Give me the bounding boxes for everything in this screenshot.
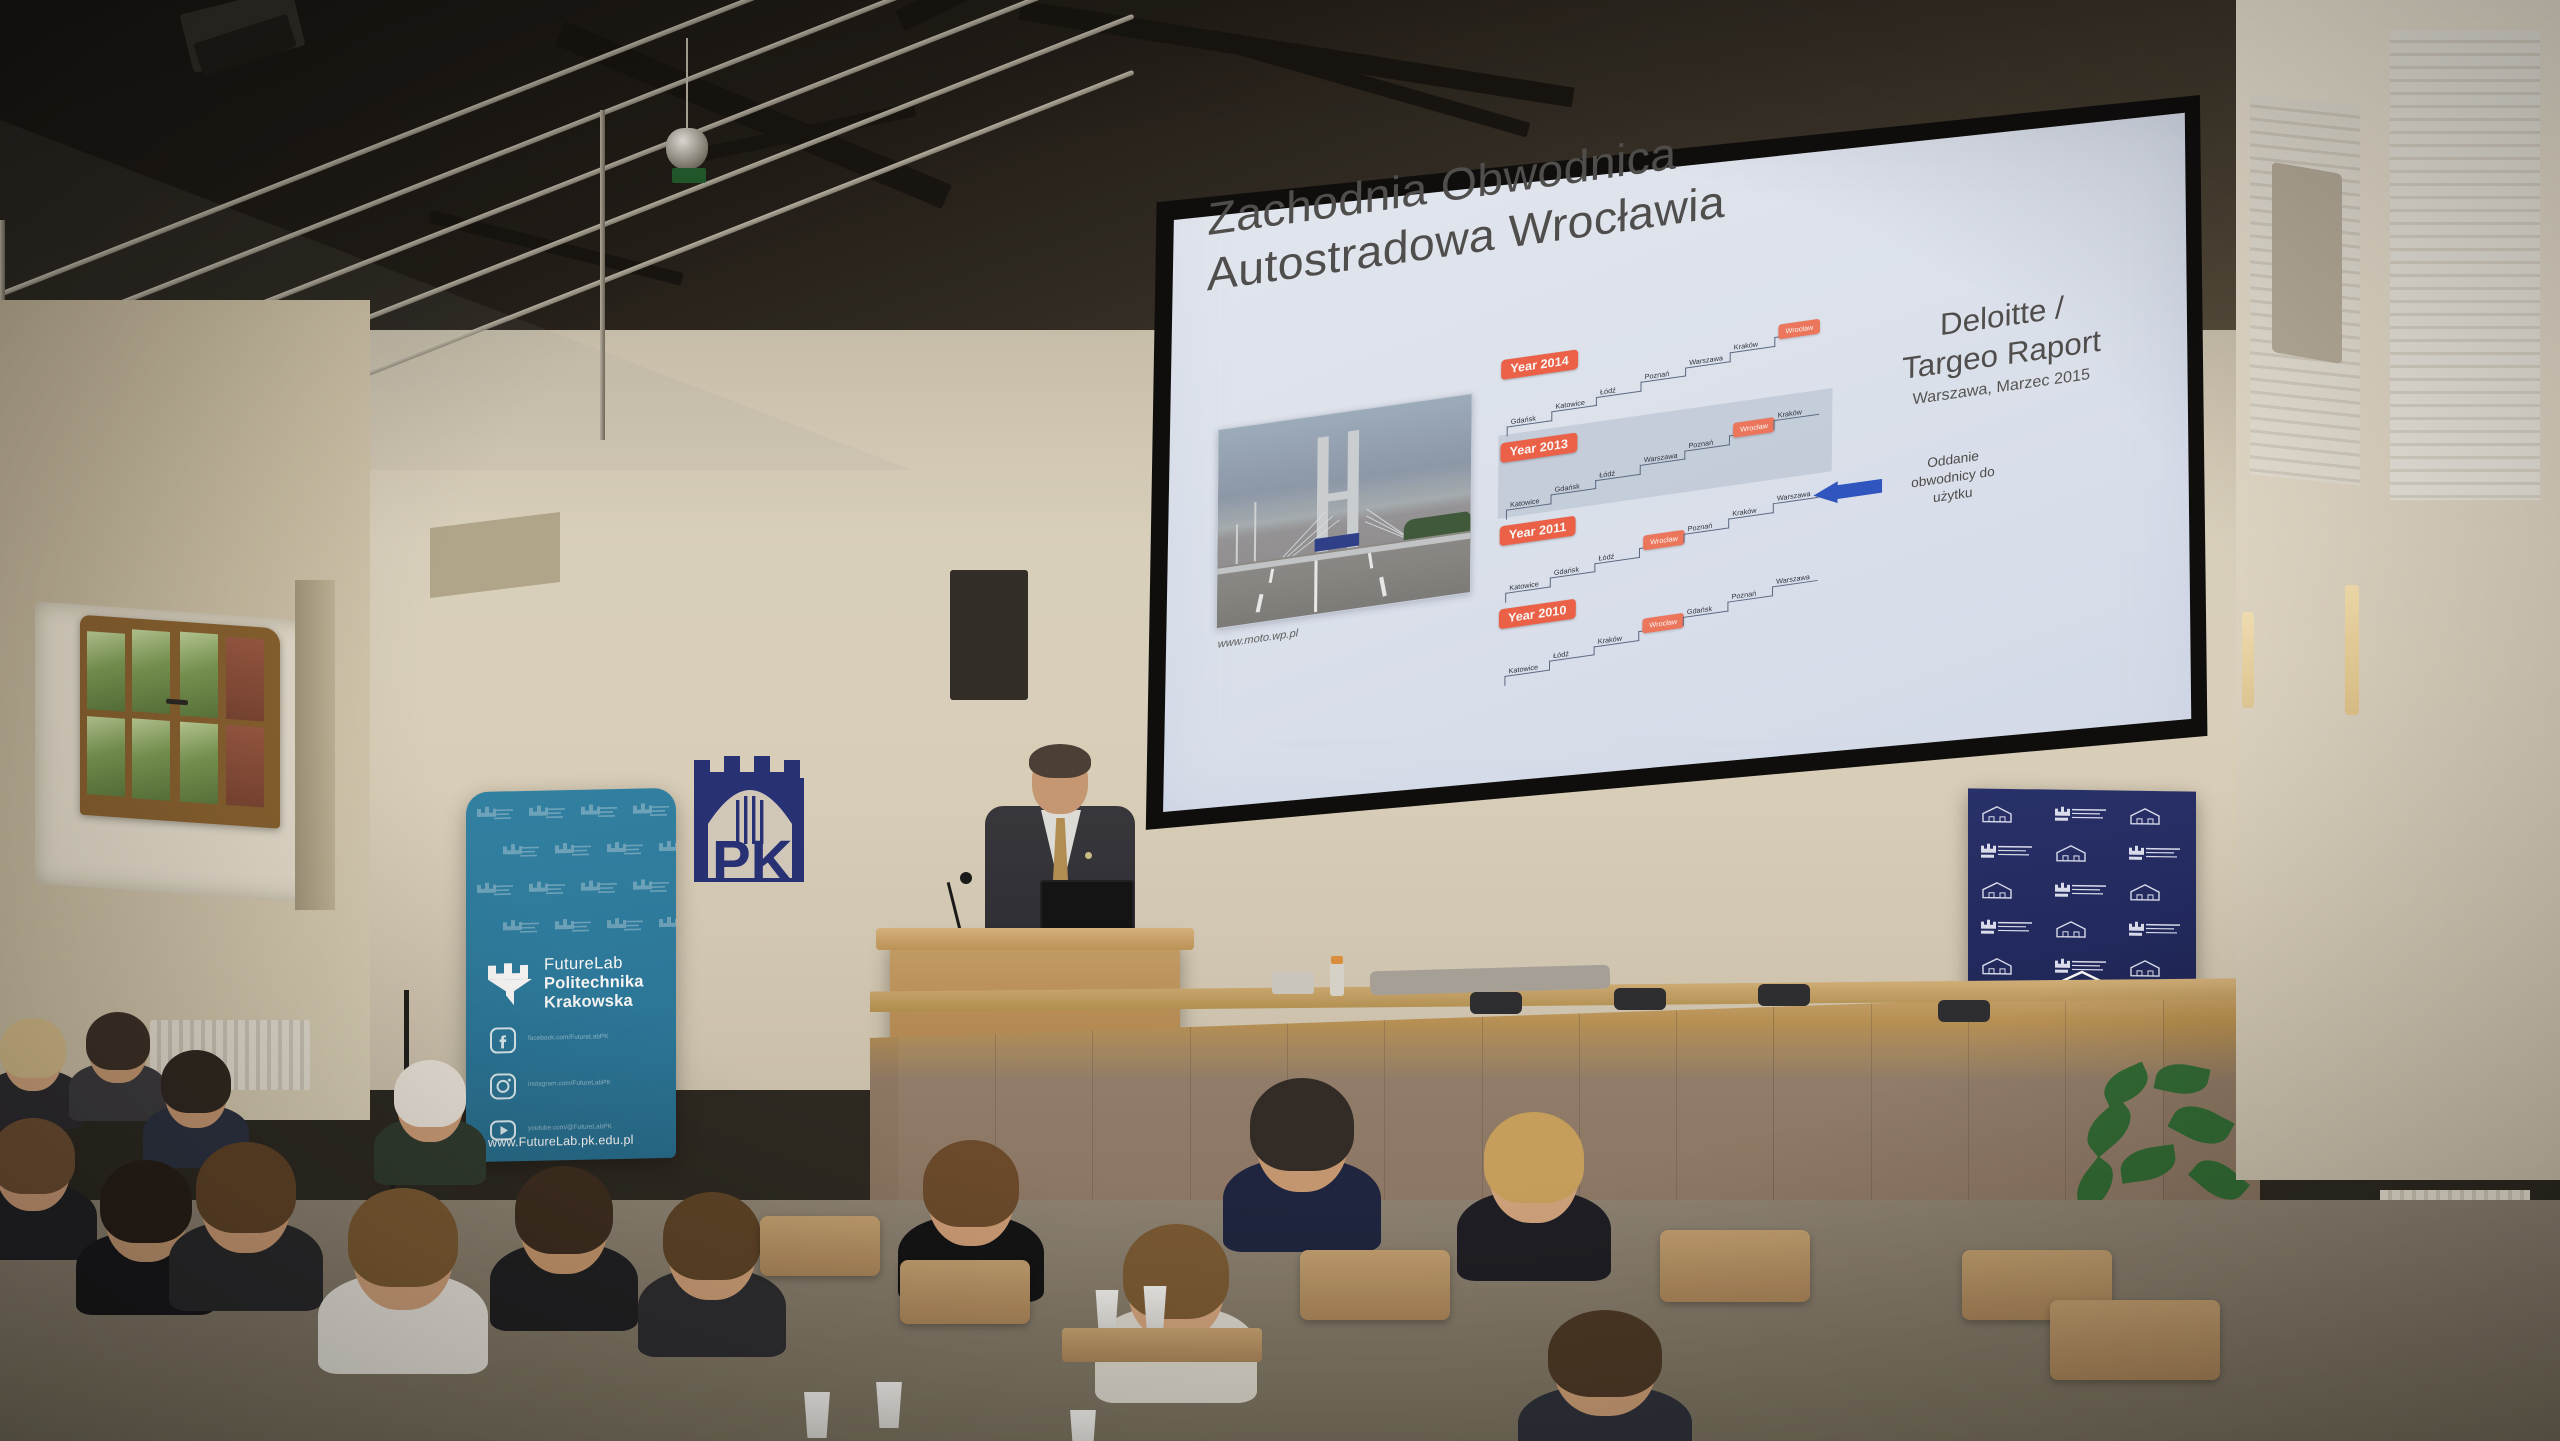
- audience-member: [908, 1140, 1034, 1280]
- pk-banner-logo-icon: [2054, 920, 2088, 943]
- pk-banner-logo-icon: [1980, 843, 2036, 867]
- pk-banner-logo-icon: [2128, 921, 2184, 945]
- exit-sign-icon: [672, 168, 706, 183]
- speaker-hair: [1029, 744, 1091, 778]
- banner-crown-motif-icon: [554, 918, 592, 944]
- futurelab-banner: FutureLab Politechnika Krakowska faceboo…: [466, 788, 676, 1162]
- timeline-rows: Year 2014GdańskKatowiceŁódźPoznańWarszaw…: [1499, 305, 1843, 354]
- slide-annotation: Oddanie obwodnicy do użytku: [1892, 442, 2014, 512]
- stage-chair[interactable]: [1614, 988, 1666, 1010]
- pk-banner-logo-icon: [2128, 807, 2162, 830]
- audience-member: [0, 1118, 88, 1240]
- arched-wooden-window: [80, 615, 280, 829]
- banner-crown-motif-icon: [658, 915, 676, 941]
- audience-member: [648, 1192, 776, 1334]
- tissue-box: [1272, 972, 1314, 994]
- banner-crown-motif-icon: [580, 879, 618, 905]
- pendant-lamp-cord: [686, 38, 688, 134]
- banner-crown-motif-icon: [658, 839, 676, 865]
- lecture-hall-photo: Zachodnia Obwodnica Autostradowa Wrocław…: [0, 0, 2560, 1441]
- banner-crown-motif-icon: [476, 805, 514, 831]
- bridge-photo: [1216, 393, 1473, 629]
- wall-sconce-light: [2345, 585, 2359, 715]
- audience-hair: [0, 1118, 75, 1194]
- auditorium-seat[interactable]: [760, 1216, 880, 1276]
- audience-hair: [0, 1018, 65, 1078]
- audience-hair: [394, 1060, 467, 1127]
- audience-member: [1234, 1078, 1370, 1228]
- pk-banner-logo-icon: [1980, 805, 2014, 828]
- lectern-top: [876, 928, 1194, 950]
- year-chip: Year 2010: [1499, 599, 1576, 630]
- audience-hair: [1548, 1310, 1662, 1397]
- banner-crown-motif-icon: [528, 804, 566, 830]
- pk-banner-logo-icon: [2128, 845, 2184, 869]
- audience-member: [500, 1166, 628, 1308]
- banner-crown-motif-icon: [502, 843, 540, 869]
- banner-crown-motif-icon: [632, 802, 670, 828]
- facebook-icon[interactable]: [490, 1027, 516, 1054]
- slide-title: Zachodnia Obwodnica Autostradowa Wrocław…: [1207, 82, 1977, 303]
- banner-crown-motif-icon: [554, 842, 592, 868]
- audience-member: [1530, 1310, 1680, 1441]
- pk-banner-logo-icon: [2054, 844, 2088, 867]
- wall-beam: [295, 580, 335, 910]
- audience-hair: [348, 1188, 459, 1287]
- audience-hair: [923, 1140, 1019, 1227]
- banner-crown-motif-icon: [502, 919, 540, 945]
- stage-chair[interactable]: [1938, 1000, 1990, 1022]
- side-table: [1062, 1328, 1262, 1362]
- water-bottle: [1330, 962, 1344, 996]
- banner-crown-motif-icon: [528, 880, 566, 906]
- audience-member: [0, 1018, 76, 1114]
- audience-member: [150, 1050, 242, 1152]
- pk-banner-logo-icon: [2054, 882, 2110, 906]
- youtube-url[interactable]: youtube.com/@FutureLabPK: [528, 1123, 612, 1132]
- instagram-url[interactable]: instagram.com/FutureLabPK: [528, 1079, 611, 1088]
- futurelab-website-url[interactable]: www.FutureLab.pk.edu.pl: [488, 1133, 634, 1150]
- banner-crown-motif-icon: [580, 803, 618, 829]
- stage-chair[interactable]: [1758, 984, 1810, 1006]
- banner-crown-motif-icon: [632, 878, 670, 904]
- microphone-head-icon: [960, 872, 972, 884]
- pk-banner-logo-icon: [2128, 959, 2162, 982]
- auditorium-seat[interactable]: [2050, 1300, 2220, 1380]
- pk-banner-logo-icon: [2128, 883, 2162, 906]
- year-chip: Year 2014: [1501, 349, 1578, 380]
- wall-sconce-light: [2242, 612, 2254, 708]
- pk-logo-text: PK: [712, 829, 793, 890]
- banner-crown-motif-icon: [606, 916, 644, 942]
- bottle-cap: [1331, 956, 1343, 964]
- banner-crown-motif-icon: [476, 881, 514, 907]
- pk-university-logo: PK: [688, 738, 810, 890]
- auditorium-seat[interactable]: [1300, 1250, 1450, 1320]
- instagram-icon[interactable]: [490, 1073, 516, 1100]
- ranking-timeline-chart: Year 2014GdańskKatowiceŁódźPoznańWarszaw…: [1496, 305, 1843, 681]
- audience-hair: [161, 1050, 231, 1113]
- audience-hair: [515, 1166, 612, 1254]
- banner-crown-motif-icon: [606, 840, 644, 866]
- audience-member: [180, 1142, 312, 1288]
- pk-banner-logo-icon: [1980, 919, 2036, 943]
- year-chip: Year 2013: [1500, 432, 1577, 463]
- pk-banner-logo-icon: [2054, 806, 2110, 830]
- auditorium-seat[interactable]: [900, 1260, 1030, 1324]
- pendant-lamp: [666, 128, 708, 170]
- stage-chair[interactable]: [1470, 992, 1522, 1014]
- wall-speaker: [950, 570, 1028, 700]
- futurelab-line3: Krakowska: [544, 991, 644, 1012]
- audience-hair: [100, 1160, 191, 1243]
- arched-window-recess: [35, 602, 335, 905]
- speaker-lapel-pin: [1085, 852, 1092, 859]
- photo-caption: www.moto.wp.pl: [1218, 627, 1299, 650]
- audience-member: [382, 1060, 478, 1168]
- presentation-slide: Zachodnia Obwodnica Autostradowa Wrocław…: [1192, 51, 2138, 759]
- ac-unit: [2272, 162, 2342, 364]
- audience-hair: [1250, 1078, 1353, 1171]
- window-blind: [2390, 30, 2540, 500]
- futurelab-wordmark: FutureLab Politechnika Krakowska: [544, 953, 644, 1012]
- audience-hair: [1484, 1112, 1584, 1203]
- futurelab-line1: FutureLab: [544, 953, 644, 974]
- audience-member: [76, 1012, 160, 1106]
- audience-member: [1468, 1112, 1600, 1258]
- facebook-url[interactable]: facebook.com/FutureLabPK: [528, 1033, 609, 1042]
- audience-hair: [663, 1192, 760, 1280]
- audience-hair: [86, 1012, 150, 1070]
- auditorium-seat[interactable]: [1660, 1230, 1810, 1302]
- futurelab-crown-logo-icon: [486, 959, 534, 1006]
- pk-banner-logo-icon: [1980, 881, 2014, 904]
- audience-member: [330, 1188, 476, 1348]
- audience-hair: [196, 1142, 296, 1233]
- pk-banner-logo-icon: [1980, 957, 2014, 980]
- slide-source-block: Deloitte / Targeo Raport Warszawa, Marze…: [1875, 280, 2129, 415]
- futurelab-line2: Politechnika: [544, 972, 644, 993]
- audience-hair: [1123, 1224, 1229, 1319]
- year-chip: Year 2011: [1500, 516, 1576, 547]
